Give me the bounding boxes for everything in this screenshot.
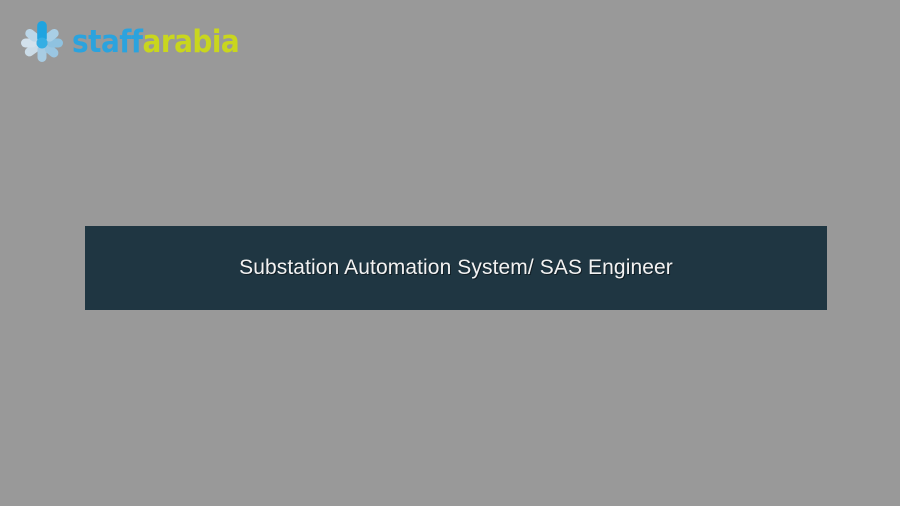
title-banner: Substation Automation System/ SAS Engine… bbox=[85, 226, 827, 310]
brand-word-arabia: arabia bbox=[143, 27, 240, 58]
brand-logo[interactable]: STAFF arabia bbox=[18, 16, 239, 68]
brand-wordmark: STAFF arabia bbox=[72, 27, 239, 58]
brand-word-staff: STAFF bbox=[72, 27, 143, 58]
slide-canvas: STAFF arabia Substation Automation Syste… bbox=[0, 0, 900, 506]
slide-title: Substation Automation System/ SAS Engine… bbox=[239, 256, 673, 280]
snowflake-asterisk-icon bbox=[18, 18, 66, 66]
